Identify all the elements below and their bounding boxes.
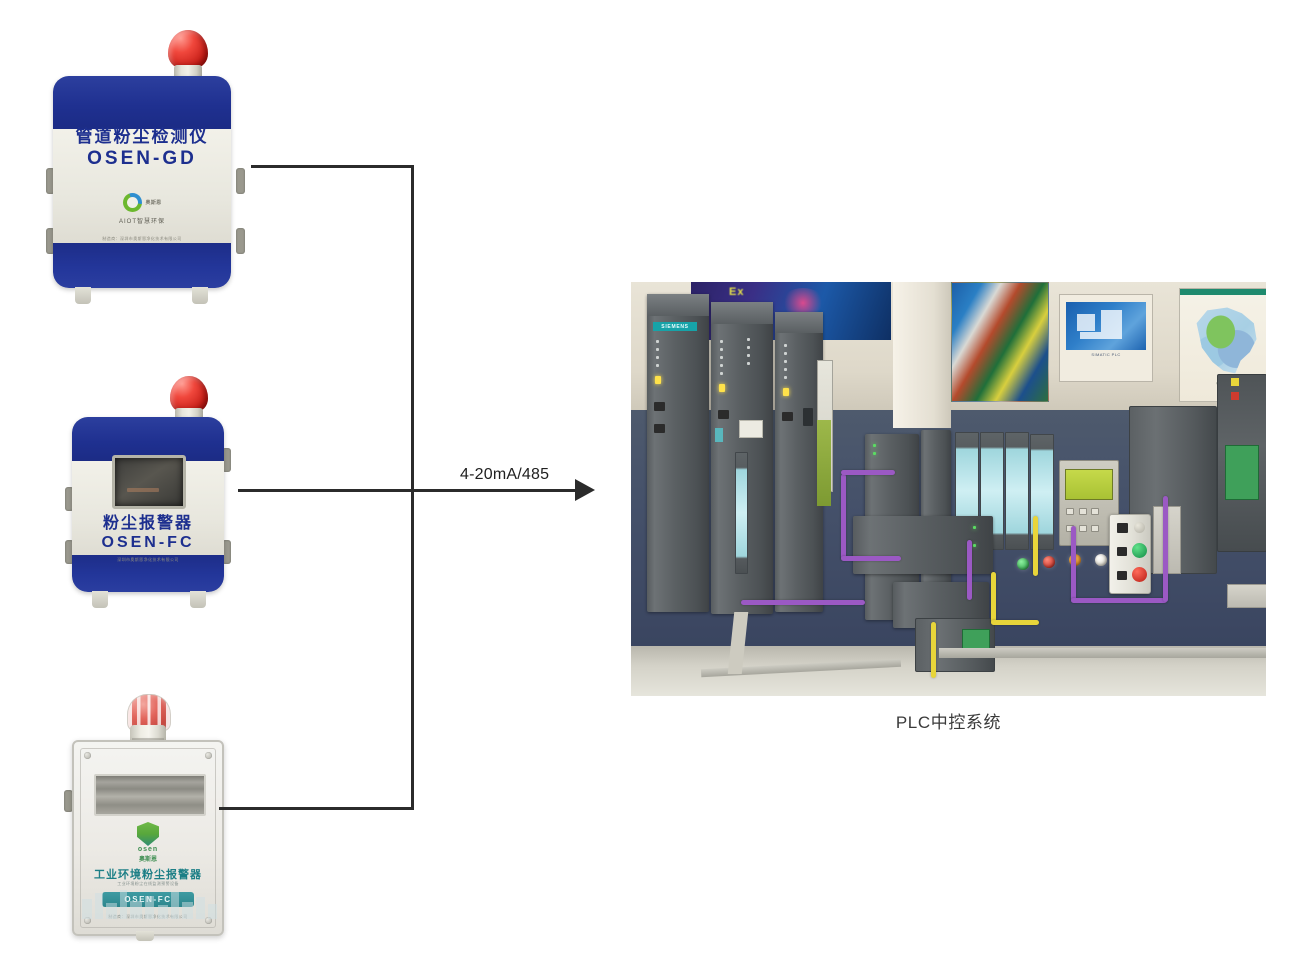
china-map-graphic (1193, 305, 1260, 377)
green-bus-strip (817, 420, 831, 506)
status-led (784, 352, 787, 355)
indicator-lamp-white (1095, 554, 1107, 566)
manufacturer-note: 制造商：深圳市奥斯恩净化技术有限公司 (53, 236, 231, 242)
status-led-active (973, 526, 976, 529)
sports-poster (951, 282, 1049, 402)
profibus-cable (1163, 496, 1168, 602)
status-led (747, 346, 750, 349)
profibus-cable (1071, 526, 1076, 602)
hmi-key[interactable] (1079, 508, 1087, 515)
device-foot (75, 287, 91, 304)
brand-tagline: AIOT智慧环保 (53, 216, 231, 225)
ethernet-cable (991, 572, 996, 624)
poster-shape (1080, 332, 1122, 340)
module-teal-tab (715, 428, 723, 442)
vfd-stop-mark (1231, 392, 1239, 400)
indicator-lamp-green (1017, 558, 1029, 570)
status-led (784, 368, 787, 371)
siemens-brand-tag: SIEMENS (653, 322, 697, 331)
device-name-label: 工业环境粉尘报警器 (74, 866, 222, 882)
servo-drive-unit (915, 618, 995, 672)
status-led (656, 364, 659, 367)
device-body: 粉尘报警器 OSEN-FC 深圳市奥斯恩净化技术有限公司 (72, 417, 224, 592)
mount-ear (236, 168, 245, 194)
ethernet-cable (991, 620, 1039, 625)
selector-switch[interactable] (1117, 547, 1127, 556)
mounting-rail (939, 648, 1266, 658)
device-foot (190, 591, 206, 608)
arrow-right-icon (575, 479, 595, 501)
vfd-warning-mark (1231, 378, 1239, 386)
hmi-key[interactable] (1066, 508, 1074, 515)
sensor-intake-vent (94, 774, 206, 816)
module-label-sticker (739, 420, 763, 438)
status-led-active (783, 388, 789, 396)
hmi-key[interactable] (1091, 525, 1099, 532)
hmi-key[interactable] (1079, 525, 1087, 532)
status-led (720, 356, 723, 359)
connection-label: 4-20mA/485 (460, 466, 549, 484)
terminal-block-row (1227, 584, 1266, 608)
memory-card-slot (803, 408, 813, 426)
diagram-canvas: 管道粉尘检测仪 OSEN-GD 奥斯恩 AIOT智慧环保 制造商：深圳市奥斯恩净… (0, 0, 1298, 967)
device-body: 管道粉尘检测仪 OSEN-GD 奥斯恩 AIOT智慧环保 制造商：深圳市奥斯恩净… (53, 76, 231, 288)
hmi-key[interactable] (1091, 508, 1099, 515)
module-connector (654, 402, 665, 411)
brand-name-en: osen (74, 846, 222, 853)
poster-caption: SIMATIC PLC (1060, 352, 1152, 357)
status-led-active (655, 376, 661, 384)
module-top-cap (775, 312, 823, 333)
pushbutton-station[interactable] (1109, 514, 1151, 594)
mount-ear (236, 228, 245, 254)
status-led (720, 340, 723, 343)
status-led-active (873, 452, 876, 455)
indicator-dot (1134, 522, 1145, 533)
brand-name-cn: 奥斯恩 (74, 854, 222, 863)
profibus-cable (967, 540, 972, 600)
plc-photo-caption: PLC中控系统 (631, 708, 1266, 733)
status-led (784, 376, 787, 379)
screw-icon (84, 752, 91, 759)
status-led (784, 344, 787, 347)
hmi-screen (1065, 469, 1114, 500)
status-led (656, 356, 659, 359)
device-foot (92, 591, 108, 608)
branch-wire-bottom (219, 807, 414, 810)
bottom-band (53, 243, 231, 288)
status-led-active (873, 444, 876, 447)
status-led (747, 338, 750, 341)
skyline-graphic (80, 885, 220, 919)
manufacturer-note: 深圳市奥斯恩净化技术有限公司 (72, 557, 224, 563)
module-connector (782, 412, 793, 421)
start-button-green[interactable] (1132, 543, 1147, 558)
status-led (656, 348, 659, 351)
poster-header-bar (1180, 289, 1266, 295)
status-led (720, 348, 723, 351)
plc-rack-module: SIEMENS (647, 294, 709, 612)
vfd-unit (1217, 374, 1266, 552)
profibus-cable (741, 600, 865, 605)
profibus-cable (841, 470, 895, 475)
osen-ring-icon (123, 193, 142, 212)
brand-name-cn: 奥斯恩 (146, 199, 162, 206)
io-terminal-card (735, 452, 748, 574)
status-led-active (719, 384, 725, 392)
vfd-display (1225, 445, 1260, 500)
profibus-cable (1071, 598, 1167, 603)
screw-icon (205, 752, 212, 759)
module-top-cap (647, 294, 709, 316)
poster-shape (1077, 314, 1095, 330)
wall-pillar (893, 282, 951, 428)
status-led (784, 360, 787, 363)
ethernet-cable (931, 622, 936, 678)
selector-switch[interactable] (1117, 571, 1127, 580)
plc-rack-module (711, 302, 773, 614)
status-led-active (973, 544, 976, 547)
status-led (747, 362, 750, 365)
device-foot (192, 287, 208, 304)
stop-button-red[interactable] (1132, 567, 1147, 582)
branch-wire-top (251, 165, 414, 168)
bus-trunk-wire (411, 165, 414, 810)
poster-shape (1101, 310, 1122, 332)
status-led (720, 364, 723, 367)
trunk-to-plc-wire (411, 489, 576, 492)
status-led (720, 372, 723, 375)
indicator-lamp-red (1043, 556, 1055, 568)
compact-plc-unit (853, 516, 993, 574)
branch-wire-middle (238, 489, 414, 492)
module-connector (718, 410, 729, 419)
plc-photo: Ex SIMATIC PLC 中国地图 SIEMENS (631, 282, 1266, 696)
device-name-label: 管道粉尘检测仪 (53, 122, 231, 147)
device-foot (136, 931, 154, 941)
status-led (656, 340, 659, 343)
device-name-label: 粉尘报警器 (72, 509, 224, 533)
ethernet-cable (1033, 516, 1038, 576)
simatic-poster: SIMATIC PLC (1059, 294, 1153, 382)
poster-image (1066, 302, 1147, 350)
status-led (747, 354, 750, 357)
profibus-cable (841, 556, 901, 561)
module-connector (654, 424, 665, 433)
osen-logo: 奥斯恩 (53, 192, 231, 212)
profibus-cable (841, 474, 846, 560)
io-terminal-card (1005, 432, 1029, 550)
ex-hazard-mark: Ex (729, 286, 744, 298)
device-display-screen (112, 455, 186, 509)
plc-cpu-module (775, 312, 823, 612)
device-model-label: OSEN-FC (72, 534, 224, 552)
module-top-cap (711, 302, 773, 324)
selector-switch[interactable] (1117, 523, 1128, 533)
device-body: osen 奥斯恩 工业环境粉尘报警器 工业环境粉尘在线监测预警设备 OSEN-F… (72, 740, 224, 936)
device-model-label: OSEN-GD (53, 148, 231, 170)
